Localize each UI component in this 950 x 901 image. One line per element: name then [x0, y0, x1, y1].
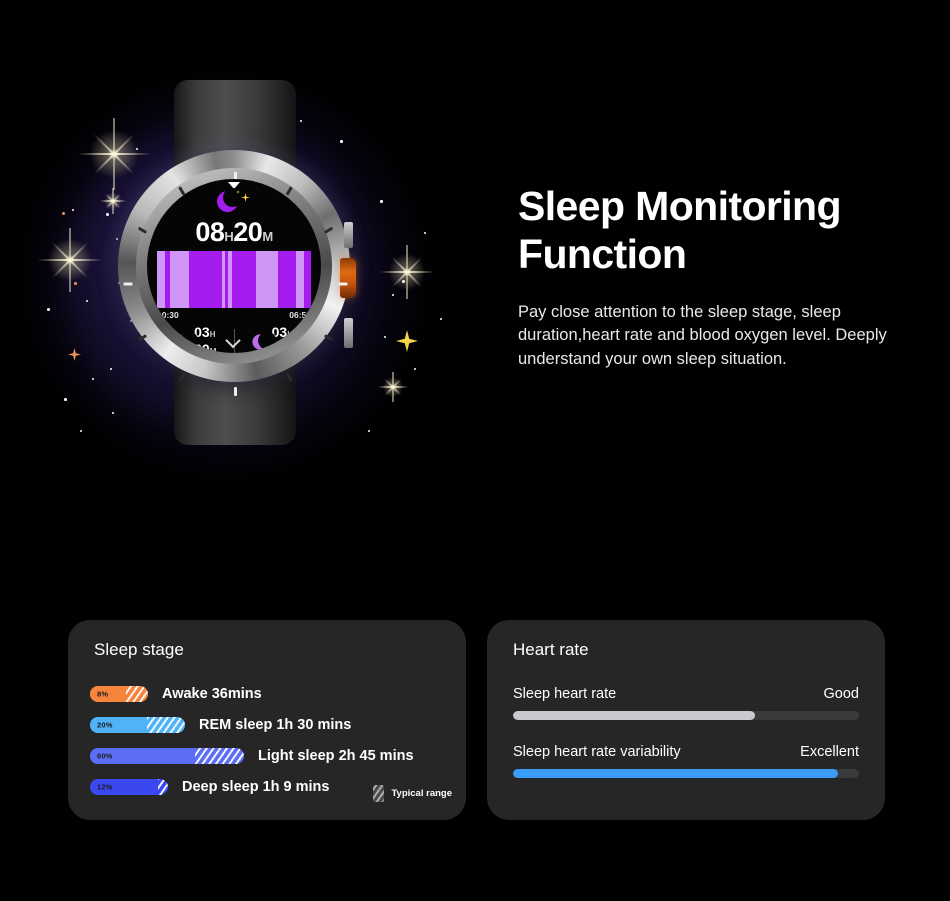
hypnogram-segment	[304, 251, 311, 308]
watch-face-screen[interactable]: 08H20M 10:30 06:50 03H	[147, 179, 321, 353]
crescent-moon-light-icon	[252, 334, 267, 349]
hypnogram-segment	[296, 251, 304, 308]
page-title: Sleep Monitoring Function	[518, 182, 928, 279]
sleep-stage-bar: 12%	[90, 779, 168, 795]
sleep-start-time: 10:30	[157, 310, 179, 320]
sleep-duration-total: 08H20M	[147, 217, 321, 248]
sleep-stage-row: 20%REM sleep 1h 30 mins	[90, 713, 448, 736]
sleep-stage-bar: 60%	[90, 748, 244, 764]
star-dot	[106, 213, 109, 216]
hero-description: Pay close attention to the sleep stage, …	[518, 301, 928, 371]
heart-rate-title: Heart rate	[513, 640, 589, 660]
heart-rate-row-header: Sleep heart rate variabilityExcellent	[513, 744, 859, 760]
sleep-stage-title: Sleep stage	[94, 640, 184, 660]
hatch-swatch-icon	[373, 785, 384, 802]
sleep-stage-percent: 12%	[97, 782, 113, 791]
starburst-icon	[38, 228, 102, 292]
typical-range-hatch	[195, 748, 244, 764]
star-dot	[47, 308, 50, 311]
sleep-stage-bar: 20%	[90, 717, 185, 733]
sleep-stage-percent: 60%	[97, 751, 113, 760]
heart-rate-progress-track	[513, 769, 859, 778]
watch-bezel: 08H20M 10:30 06:50 03H	[118, 150, 350, 382]
total-minutes-unit: M	[262, 229, 272, 244]
sleep-end-time: 06:50	[289, 310, 311, 320]
star-dot	[72, 209, 74, 211]
sleep-stage-label: Awake 36mins	[162, 686, 262, 702]
sleep-stage-percent: 20%	[97, 720, 113, 729]
heart-rate-metric-name: Sleep heart rate	[513, 686, 616, 702]
hypnogram-segment	[278, 251, 296, 308]
star-dot	[86, 300, 88, 302]
star-dot	[384, 336, 386, 338]
star-dot	[368, 430, 370, 432]
sleep-stage-label: REM sleep 1h 30 mins	[199, 717, 351, 733]
sleep-stage-label: Light sleep 2h 45 mins	[258, 748, 414, 764]
heart-rate-row: Sleep heart rateGood	[513, 686, 859, 720]
sleep-stage-row: 8%Awake 36mins	[90, 682, 448, 705]
heart-rate-row: Sleep heart rate variabilityExcellent	[513, 744, 859, 778]
star-dot	[424, 232, 426, 234]
hero-copy: Sleep Monitoring Function Pay close atte…	[518, 182, 928, 371]
hypnogram-segment	[157, 251, 165, 308]
star-dot	[440, 318, 442, 320]
headline-line-2: Function	[518, 230, 928, 278]
hypnogram-segment	[256, 251, 278, 308]
legend-label: Typical range	[391, 788, 452, 799]
watch-side-button-top[interactable]	[344, 222, 353, 248]
crescent-moon-icon	[217, 191, 251, 215]
heart-rate-progress-track	[513, 711, 859, 720]
typical-range-legend: Typical range	[373, 785, 452, 802]
star-dot	[92, 378, 94, 380]
metric-cards: Sleep stage 8%Awake 36mins20%REM sleep 1…	[0, 620, 950, 820]
watch-side-button-bottom[interactable]	[344, 318, 353, 348]
sleep-hypnogram-chart	[157, 251, 311, 308]
stat-right-minutes-unit: M	[287, 347, 294, 353]
heart-rate-metric-value: Excellent	[800, 744, 859, 760]
hypnogram-segment	[170, 251, 188, 308]
stat-right-hours-unit: H	[287, 330, 293, 339]
heart-rate-row-header: Sleep heart rateGood	[513, 686, 859, 702]
star-dot	[414, 368, 416, 370]
heart-rate-card: Heart rate Sleep heart rateGoodSleep hea…	[487, 620, 885, 820]
star-dot	[80, 430, 82, 432]
scroll-down-chevron-icon[interactable]	[228, 334, 241, 347]
heart-rate-metric-name: Sleep heart rate variability	[513, 744, 681, 760]
heart-rate-progress-fill	[513, 711, 755, 720]
typical-range-hatch	[126, 686, 148, 702]
star-dot	[62, 212, 65, 215]
watch-stat-left: 03H 20M	[157, 325, 234, 353]
star-dot	[380, 200, 383, 203]
smartwatch: 08H20M 10:30 06:50 03H	[110, 85, 360, 440]
sleep-stage-bar: 8%	[90, 686, 148, 702]
hypnogram-segment	[232, 251, 257, 308]
heart-rate-rows: Sleep heart rateGoodSleep heart rate var…	[513, 686, 859, 802]
sleep-stage-card: Sleep stage 8%Awake 36mins20%REM sleep 1…	[68, 620, 466, 820]
headline-line-1: Sleep Monitoring	[518, 182, 928, 230]
crescent-moon-icon	[175, 334, 190, 349]
typical-range-hatch	[158, 779, 168, 795]
stat-left-minutes-unit: M	[210, 347, 217, 353]
star-dot	[392, 294, 394, 296]
sleep-stage-label: Deep sleep 1h 9 mins	[182, 779, 329, 795]
total-hours-unit: H	[224, 229, 233, 244]
watch-bezel-inner: 08H20M 10:30 06:50 03H	[136, 168, 332, 364]
hero-section: 08H20M 10:30 06:50 03H	[0, 0, 950, 560]
hypnogram-time-axis: 10:30 06:50	[157, 310, 311, 320]
star-dot	[74, 282, 77, 285]
watch-stat-right: 03H 20M	[235, 325, 312, 353]
watch-crown-button[interactable]	[340, 258, 356, 298]
total-minutes: 20	[233, 217, 262, 247]
sleep-stage-percent: 8%	[97, 689, 108, 698]
typical-range-hatch	[147, 717, 185, 733]
starburst-icon	[380, 245, 434, 299]
stat-left-hours-unit: H	[210, 330, 216, 339]
heart-rate-metric-value: Good	[824, 686, 859, 702]
total-hours: 08	[195, 217, 224, 247]
sleep-monitoring-page: 08H20M 10:30 06:50 03H	[0, 0, 950, 901]
star-dot	[402, 280, 405, 283]
sleep-stage-row: 60%Light sleep 2h 45 mins	[90, 744, 448, 767]
star-dot	[64, 398, 67, 401]
starburst-icon	[378, 372, 408, 402]
heart-rate-progress-fill	[513, 769, 838, 778]
hypnogram-segment	[189, 251, 223, 308]
